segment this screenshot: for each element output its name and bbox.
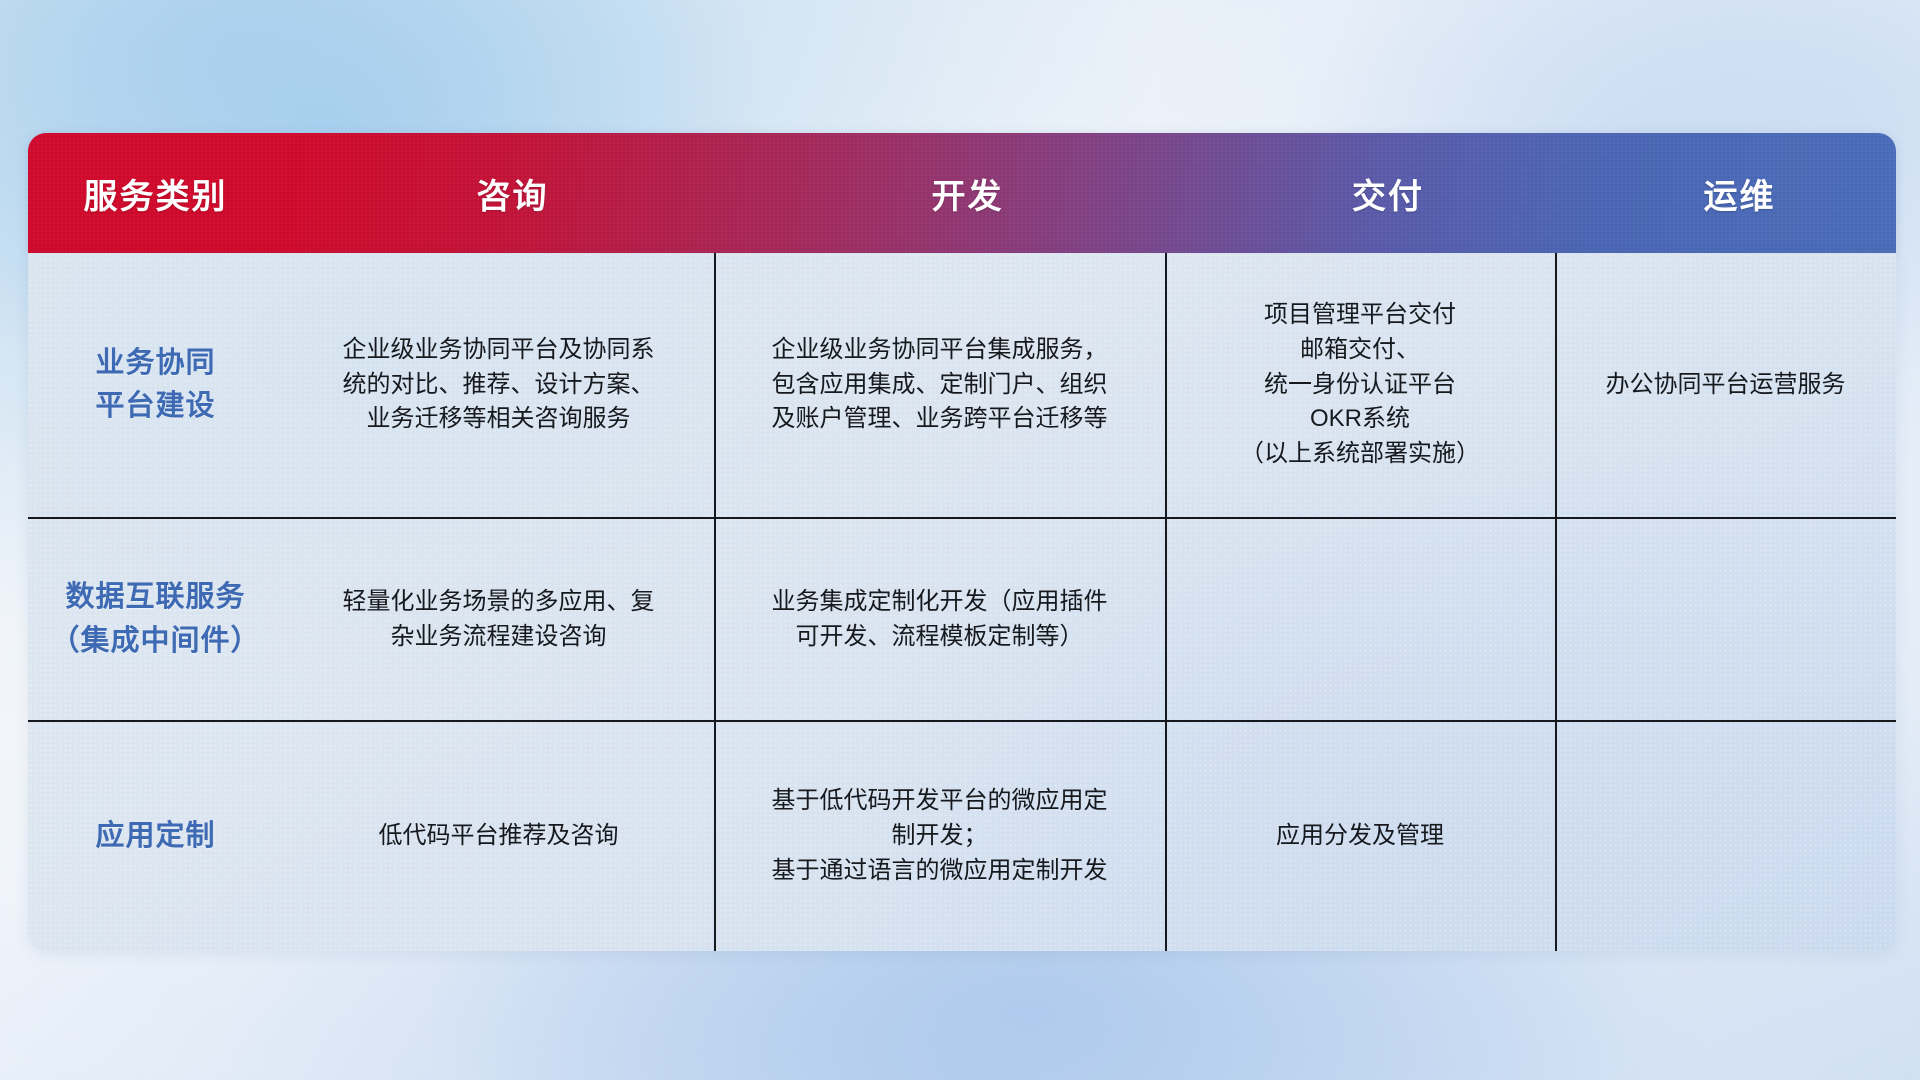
cell-r3-consulting: 低代码平台推荐及咨询 bbox=[283, 722, 714, 951]
slide-canvas: 服务类别 咨询 开发 交付 运维 业务协同 平台建设 企业级业务协同平台及协同系… bbox=[0, 0, 1920, 1080]
column-header-category: 服务类别 bbox=[28, 169, 283, 218]
table-header-row: 服务类别 咨询 开发 交付 运维 bbox=[28, 133, 1896, 253]
cell-r3-development: 基于低代码开发平台的微应用定 制开发； 基于通过语言的微应用定制开发 bbox=[714, 722, 1165, 951]
table-body: 业务协同 平台建设 企业级业务协同平台及协同系 统的对比、推荐、设计方案、 业务… bbox=[28, 253, 1896, 951]
cell-r2-development: 业务集成定制化开发（应用插件 可开发、流程模板定制等） bbox=[714, 519, 1165, 720]
table-row[interactable]: 业务协同 平台建设 企业级业务协同平台及协同系 统的对比、推荐、设计方案、 业务… bbox=[28, 253, 1896, 517]
cell-r2-consulting: 轻量化业务场景的多应用、复 杂业务流程建设咨询 bbox=[283, 519, 714, 720]
row-label-data-integration: 数据互联服务 （集成中间件） bbox=[28, 519, 283, 720]
row-label-app-customization: 应用定制 bbox=[28, 722, 283, 951]
service-matrix-table: 服务类别 咨询 开发 交付 运维 业务协同 平台建设 企业级业务协同平台及协同系… bbox=[28, 133, 1896, 951]
cell-r2-operations bbox=[1555, 519, 1896, 720]
cell-r2-delivery bbox=[1165, 519, 1555, 720]
cell-r1-delivery: 项目管理平台交付 邮箱交付、 统一身份认证平台 OKR系统 （以上系统部署实施） bbox=[1165, 253, 1555, 517]
cell-r1-operations: 办公协同平台运营服务 bbox=[1555, 253, 1896, 517]
column-header-operations: 运维 bbox=[1583, 169, 1896, 218]
cell-r3-delivery: 应用分发及管理 bbox=[1165, 722, 1555, 951]
column-header-delivery: 交付 bbox=[1193, 169, 1583, 218]
cell-r3-operations bbox=[1555, 722, 1896, 951]
cell-r1-development: 企业级业务协同平台集成服务， 包含应用集成、定制门户、组织 及账户管理、业务跨平… bbox=[714, 253, 1165, 517]
cell-r1-consulting: 企业级业务协同平台及协同系 统的对比、推荐、设计方案、 业务迁移等相关咨询服务 bbox=[283, 253, 714, 517]
column-header-development: 开发 bbox=[742, 169, 1193, 218]
row-label-business-collaboration: 业务协同 平台建设 bbox=[28, 253, 283, 517]
table-row[interactable]: 数据互联服务 （集成中间件） 轻量化业务场景的多应用、复 杂业务流程建设咨询 业… bbox=[28, 519, 1896, 720]
table-row[interactable]: 应用定制 低代码平台推荐及咨询 基于低代码开发平台的微应用定 制开发； 基于通过… bbox=[28, 722, 1896, 951]
column-header-consulting: 咨询 bbox=[283, 169, 742, 218]
